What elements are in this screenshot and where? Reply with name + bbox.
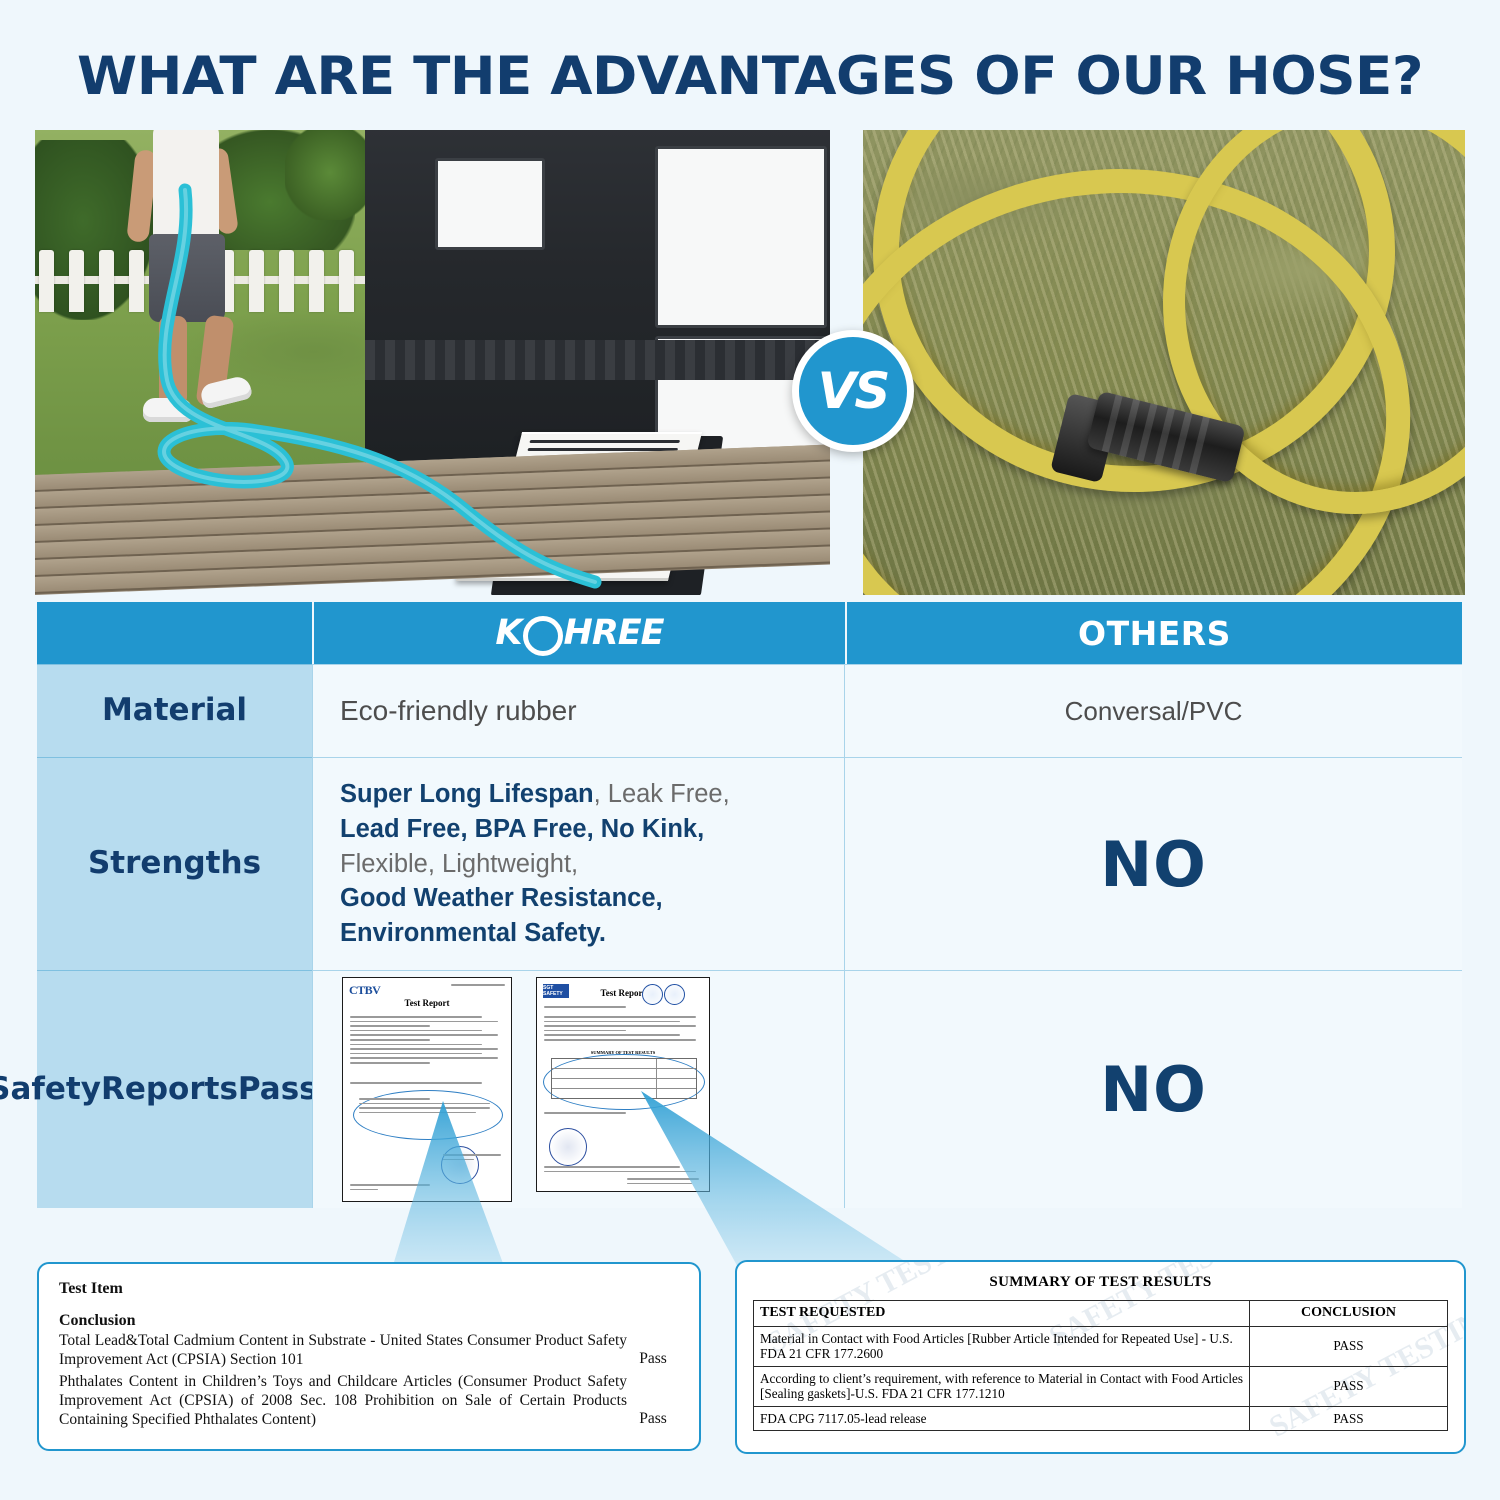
kohree-logo: KHREE bbox=[495, 613, 663, 653]
test-item-panel: Test Item Conclusion Total Lead&Total Ca… bbox=[37, 1262, 701, 1451]
header-cell-others: OTHERS bbox=[845, 602, 1462, 664]
summary-col-test: TEST REQUESTED bbox=[754, 1301, 1250, 1327]
strengths-text: Super Long Lifespan, Leak Free,Lead Free… bbox=[313, 777, 730, 950]
header-cell-blank bbox=[37, 602, 312, 664]
accreditation-badge-icon bbox=[664, 984, 685, 1005]
row-label-strengths: Strengths bbox=[37, 757, 312, 970]
summary-title: SUMMARY OF TEST RESULTS bbox=[753, 1274, 1448, 1291]
cell-kohree-strengths: Super Long Lifespan, Leak Free,Lead Free… bbox=[312, 757, 844, 970]
others-hose-photo bbox=[863, 130, 1465, 595]
kohree-hose-photo bbox=[35, 130, 830, 595]
summary-cell-conclusion: PASS bbox=[1250, 1326, 1448, 1366]
row-label-safety: SafetyReportsPassed bbox=[37, 970, 312, 1208]
kohree-o-icon bbox=[523, 616, 563, 656]
cell-kohree-certificates: CTBV Test Report bbox=[312, 970, 844, 1208]
accreditation-badge-icon bbox=[642, 984, 663, 1005]
table-row: According to client’s requirement, with … bbox=[754, 1366, 1448, 1406]
conclusion-entry-result: Pass bbox=[627, 1410, 679, 1430]
header-cell-kohree: KHREE bbox=[312, 602, 845, 664]
summary-table: TEST REQUESTED CONCLUSION Material in Co… bbox=[753, 1300, 1448, 1431]
table-row: Material Eco-friendly rubber Conversal/P… bbox=[37, 664, 1462, 757]
summary-header-row: TEST REQUESTED CONCLUSION bbox=[754, 1301, 1448, 1327]
conclusion-heading: Conclusion bbox=[59, 1312, 679, 1330]
page-title: WHAT ARE THE ADVANTAGES OF OUR HOSE? bbox=[0, 46, 1500, 107]
comparison-table: KHREE OTHERS Material Eco-friendly rubbe… bbox=[37, 602, 1462, 1208]
summary-cell-test: According to client’s requirement, with … bbox=[754, 1366, 1250, 1406]
blue-hose-graphic bbox=[35, 130, 830, 595]
table-row: FDA CPG 7117.05-lead release PASS bbox=[754, 1406, 1448, 1431]
summary-cell-conclusion: PASS bbox=[1250, 1366, 1448, 1406]
summary-cell-conclusion: PASS bbox=[1250, 1406, 1448, 1431]
table-row: Material in Contact with Food Articles [… bbox=[754, 1326, 1448, 1366]
conclusion-entry-result: Pass bbox=[627, 1350, 679, 1370]
table-row: SafetyReportsPassed CTBV Test Report bbox=[37, 970, 1462, 1208]
summary-cell-test: FDA CPG 7117.05-lead release bbox=[754, 1406, 1250, 1431]
vs-badge: VS bbox=[792, 330, 914, 452]
cell-kohree-material: Eco-friendly rubber bbox=[312, 664, 844, 757]
conclusion-entry-text: Total Lead&Total Cadmium Content in Subs… bbox=[59, 1332, 627, 1370]
photo-comparison-band bbox=[35, 130, 1465, 595]
test-item-heading: Test Item bbox=[59, 1280, 679, 1298]
conclusion-entry-text: Phthalates Content in Children’s Toys an… bbox=[59, 1373, 627, 1430]
row-label-material: Material bbox=[37, 664, 312, 757]
summary-of-test-results-panel: SAFETY TESTING SAFETY TESTING SAFETY TES… bbox=[735, 1260, 1466, 1454]
summary-col-conclusion: CONCLUSION bbox=[1250, 1301, 1448, 1327]
table-header-row: KHREE OTHERS bbox=[37, 602, 1462, 664]
cell-others-strengths: NO bbox=[844, 757, 1462, 970]
cell-others-material: Conversal/PVC bbox=[844, 664, 1462, 757]
summary-cell-test: Material in Contact with Food Articles [… bbox=[754, 1326, 1250, 1366]
table-row: Strengths Super Long Lifespan, Leak Free… bbox=[37, 757, 1462, 970]
